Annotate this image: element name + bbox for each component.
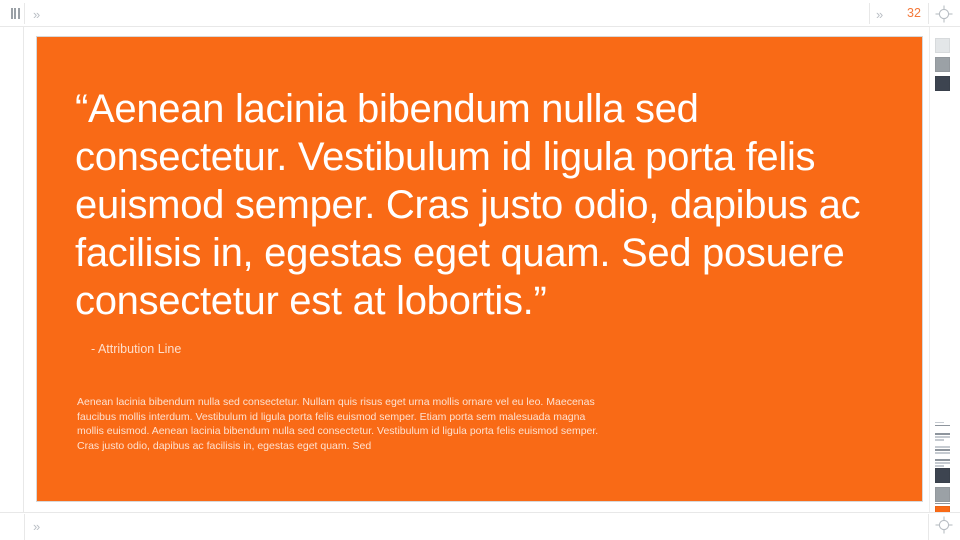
- top-toolbar: » » 32: [0, 0, 960, 27]
- swatch-dark-navy[interactable]: [935, 76, 950, 91]
- right-panel-rail: [929, 27, 960, 512]
- chevron-double-right-icon: »: [33, 520, 39, 533]
- swatch-dark-navy[interactable]: [935, 468, 950, 483]
- toolbar-divider-left: [24, 3, 25, 24]
- expand-bottom-panel-button[interactable]: »: [33, 518, 55, 534]
- slide-canvas[interactable]: “Aenean lacinia bibendum nulla sed conse…: [25, 28, 928, 512]
- layout-thumbnail-2[interactable]: [934, 432, 951, 442]
- body-paragraph[interactable]: Aenean lacinia bibendum nulla sed consec…: [77, 395, 607, 453]
- bottom-divider-right: [928, 514, 929, 540]
- page-number-indicator[interactable]: 32: [903, 5, 925, 21]
- slide-quote[interactable]: “Aenean lacinia bibendum nulla sed conse…: [36, 36, 923, 502]
- chevron-double-right-icon: »: [33, 8, 39, 21]
- bottom-divider-left: [24, 514, 25, 540]
- expand-left-panel-button[interactable]: »: [33, 6, 55, 22]
- bottom-toolbar: [0, 512, 960, 540]
- toolbar-divider-far-right: [928, 3, 929, 24]
- left-panel-rail: [0, 27, 24, 512]
- columns-bars-icon: [11, 8, 20, 19]
- layout-thumbnail-3[interactable]: [934, 445, 951, 455]
- crosshair-icon-top[interactable]: [934, 4, 954, 24]
- expand-right-panel-button[interactable]: »: [876, 6, 898, 22]
- theme-swatch-group-top: [935, 38, 950, 91]
- chevron-double-right-icon: »: [876, 8, 882, 21]
- toolbar-divider-right: [869, 3, 870, 24]
- attribution-line[interactable]: - Attribution Line: [91, 341, 181, 357]
- swatch-medium-gray[interactable]: [935, 487, 950, 502]
- quote-text[interactable]: “Aenean lacinia bibendum nulla sed conse…: [75, 85, 887, 325]
- layout-thumbnail-4[interactable]: [934, 458, 951, 468]
- crosshair-icon-bottom[interactable]: [934, 515, 954, 535]
- layout-thumbnail-1[interactable]: [934, 419, 951, 429]
- swatch-light-gray[interactable]: [935, 38, 950, 53]
- panel-toggle-button[interactable]: [6, 0, 24, 26]
- presentation-editor: » » 32 “Aenean lacinia bibendum nulla se…: [0, 0, 960, 540]
- swatch-medium-gray[interactable]: [935, 57, 950, 72]
